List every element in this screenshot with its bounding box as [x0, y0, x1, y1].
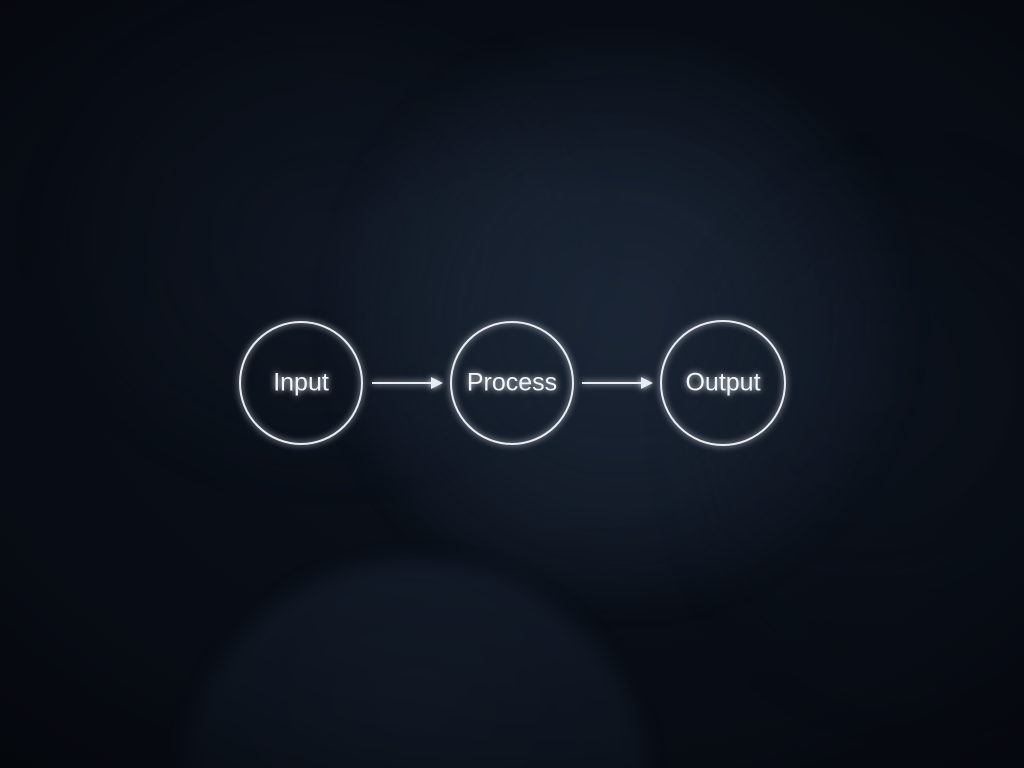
- edge-process-output[interactable]: [582, 377, 653, 389]
- arrowhead-right-icon: [641, 377, 653, 389]
- node-process-label: Process: [467, 369, 557, 397]
- node-output[interactable]: Output: [661, 321, 785, 445]
- node-input-label: Input: [273, 369, 329, 397]
- arrowhead-right-icon: [431, 377, 443, 389]
- diagram-canvas: Input Process Output: [0, 0, 1024, 768]
- node-input[interactable]: Input: [240, 322, 362, 444]
- flow-diagram-svg: Input Process Output: [0, 0, 1024, 768]
- node-output-label: Output: [685, 369, 760, 397]
- edge-input-process[interactable]: [372, 377, 443, 389]
- node-process[interactable]: Process: [451, 322, 573, 444]
- flow-diagram: Input Process Output: [0, 0, 1024, 768]
